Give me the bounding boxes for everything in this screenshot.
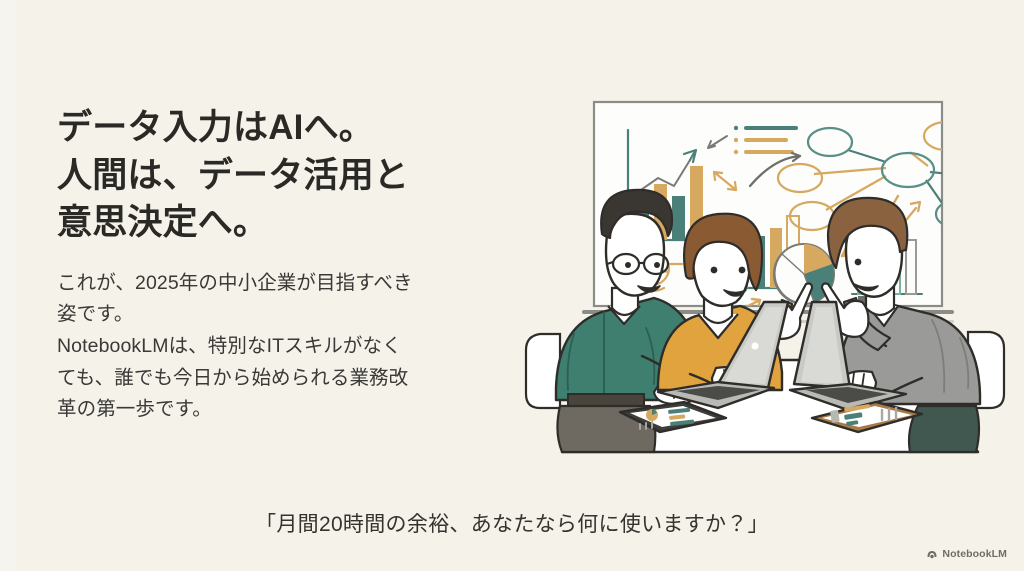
meeting-illustration [512, 88, 1024, 472]
notebooklm-watermark: NotebookLM [926, 548, 1007, 560]
bottom-caption: 「月間20時間の余裕、あなたなら何に使いますか？」 [0, 508, 1024, 538]
body-paragraph: これが、2025年の中小企業が目指すべき 姿です。 NotebookLMは、特別… [57, 247, 489, 426]
left-edge-strip [0, 0, 16, 571]
body-line-4: ても、誰でも今日から始められる業務改 [57, 363, 489, 395]
body-line-2: 姿です。 [57, 299, 489, 331]
headline-line-1: データ入力はAIへ。 [57, 104, 512, 152]
page-title: データ入力はAIへ。 人間は、データ活用と 意思決定へ。 [57, 104, 512, 247]
body-line-5: 革の第一歩です。 [57, 394, 489, 426]
body-line-1: これが、2025年の中小企業が目指すべき [57, 268, 489, 300]
headline-line-3: 意思決定へ。 [57, 199, 512, 247]
text-column: データ入力はAIへ。 人間は、データ活用と 意思決定へ。 これが、2025年の中… [57, 104, 512, 426]
body-line-3: NotebookLMは、特別なITスキルがなく [57, 331, 489, 363]
notebooklm-watermark-label: NotebookLM [942, 548, 1007, 560]
slide-root: データ入力はAIへ。 人間は、データ活用と 意思決定へ。 これが、2025年の中… [0, 0, 1024, 571]
headline-line-2: 人間は、データ活用と [57, 152, 512, 200]
notebooklm-logo-icon [926, 548, 938, 560]
